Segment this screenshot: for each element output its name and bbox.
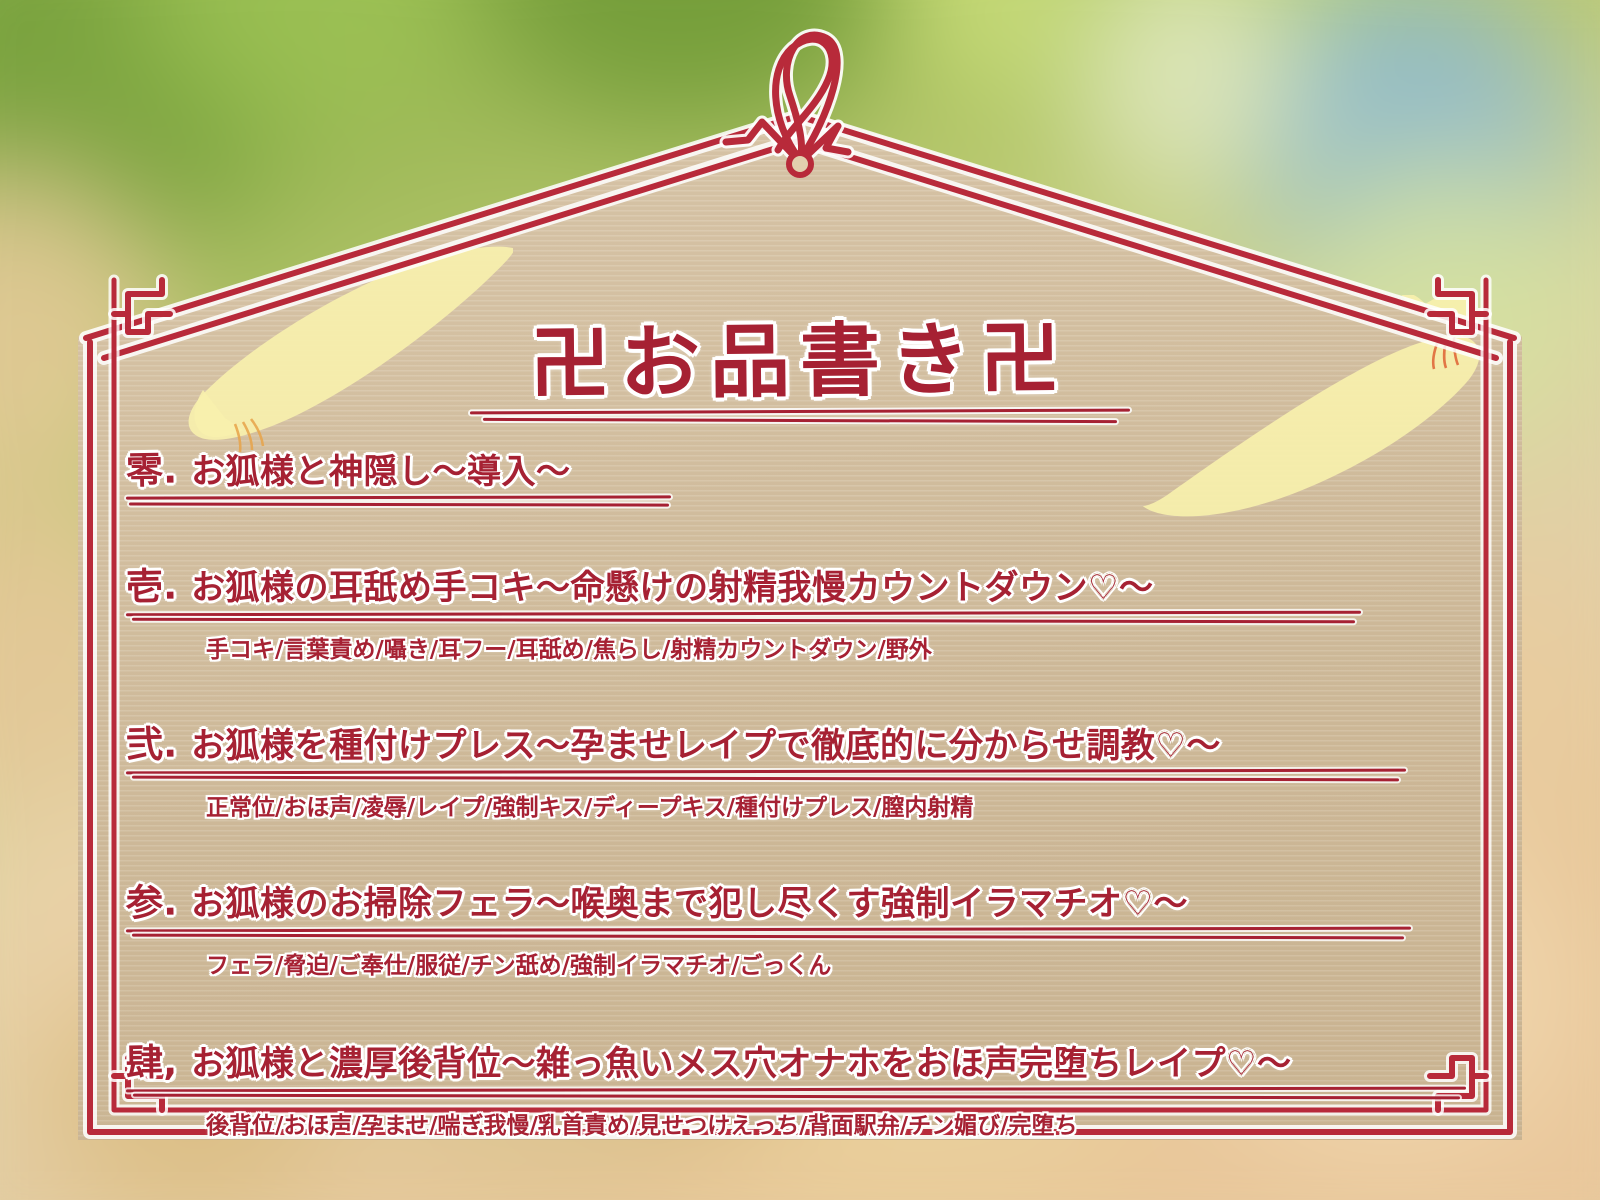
menu-item-3-heading: 参. お狐様のお掃除フェラ〜喉奥まで犯し尽くす強制イラマチオ♡〜 bbox=[126, 872, 1482, 926]
menu-item-0-number: 零. bbox=[126, 440, 178, 495]
page-title-block: 卍お品書き卍 bbox=[78, 322, 1522, 420]
menu-item-0-heading: 零. お狐様と神隠し〜導入〜 bbox=[126, 440, 1482, 494]
menu-item-3: 参. お狐様のお掃除フェラ〜喉奥まで犯し尽くす強制イラマチオ♡〜 フェラ/脅迫/… bbox=[126, 872, 1482, 980]
menu-item-1-title: お狐様の耳舐め手コキ〜命懸けの射精我慢カウントダウン♡〜 bbox=[191, 560, 1153, 609]
menu-item-1-underline bbox=[126, 612, 1361, 624]
menu-item-4: 肆, お狐様と濃厚後背位〜雑っ魚いメス穴オナホをおほ声完堕ちレイプ♡〜 後背位/… bbox=[126, 1032, 1482, 1140]
menu-item-1-tags: 手コキ/言葉責め/囁き/耳フー/耳舐め/焦らし/射精カウントダウン/野外 bbox=[206, 630, 1482, 664]
menu-item-3-underline bbox=[126, 928, 1411, 940]
menu-item-3-title: お狐様のお掃除フェラ〜喉奥まで犯し尽くす強制イラマチオ♡〜 bbox=[191, 876, 1188, 925]
menu-item-2-tags: 正常位/おほ声/凌辱/レイプ/強制キス/ディープキス/種付けプレス/膣内射精 bbox=[206, 788, 1482, 822]
menu-item-1: 壱. お狐様の耳舐め手コキ〜命懸けの射精我慢カウントダウン♡〜 手コキ/言葉責め… bbox=[126, 556, 1482, 664]
menu-item-2-underline bbox=[126, 770, 1406, 782]
screenshot-root: 卍お品書き卍 零. お狐様と神隠し〜導入〜 bbox=[0, 0, 1600, 1200]
menu-item-0-title: お狐様と神隠し〜導入〜 bbox=[191, 444, 571, 493]
menu-item-3-number: 参. bbox=[126, 872, 178, 927]
menu-item-3-tags: フェラ/脅迫/ご奉仕/服従/チン舐め/強制イラマチオ/ごっくん bbox=[206, 946, 1482, 980]
menu-item-4-number: 肆, bbox=[126, 1032, 178, 1087]
menu-item-4-tags: 後背位/おほ声/孕ませ/喘ぎ我慢/乳首責め/見せつけえっち/背面駅弁/チン媚び/… bbox=[206, 1106, 1482, 1140]
menu-item-4-underline bbox=[126, 1088, 1466, 1100]
menu-item-2: 弐. お狐様を種付けプレス〜孕ませレイプで徹底的に分からせ調教♡〜 正常位/おほ… bbox=[126, 714, 1482, 822]
menu-item-2-title: お狐様を種付けプレス〜孕ませレイプで徹底的に分からせ調教♡〜 bbox=[191, 718, 1221, 767]
menu-item-2-heading: 弐. お狐様を種付けプレス〜孕ませレイプで徹底的に分からせ調教♡〜 bbox=[126, 714, 1482, 768]
title-underline bbox=[470, 410, 1130, 420]
page-title: 卍お品書き卍 bbox=[530, 319, 1071, 405]
menu-item-0: 零. お狐様と神隠し〜導入〜 bbox=[126, 440, 1482, 508]
menu-item-4-title: お狐様と濃厚後背位〜雑っ魚いメス穴オナホをおほ声完堕ちレイプ♡〜 bbox=[191, 1036, 1291, 1085]
menu-item-1-heading: 壱. お狐様の耳舐め手コキ〜命懸けの射精我慢カウントダウン♡〜 bbox=[126, 556, 1482, 610]
menu-item-1-number: 壱. bbox=[126, 556, 178, 611]
menu-item-4-heading: 肆, お狐様と濃厚後背位〜雑っ魚いメス穴オナホをおほ声完堕ちレイプ♡〜 bbox=[126, 1032, 1482, 1086]
ema-plaque: 卍お品書き卍 零. お狐様と神隠し〜導入〜 bbox=[78, 110, 1522, 1140]
menu-item-2-number: 弐. bbox=[126, 714, 178, 769]
menu-item-0-underline bbox=[126, 496, 671, 508]
menu-list: 零. お狐様と神隠し〜導入〜 壱. お狐様の耳舐め手コキ〜命懸けの射精我慢カウン… bbox=[126, 440, 1482, 1140]
